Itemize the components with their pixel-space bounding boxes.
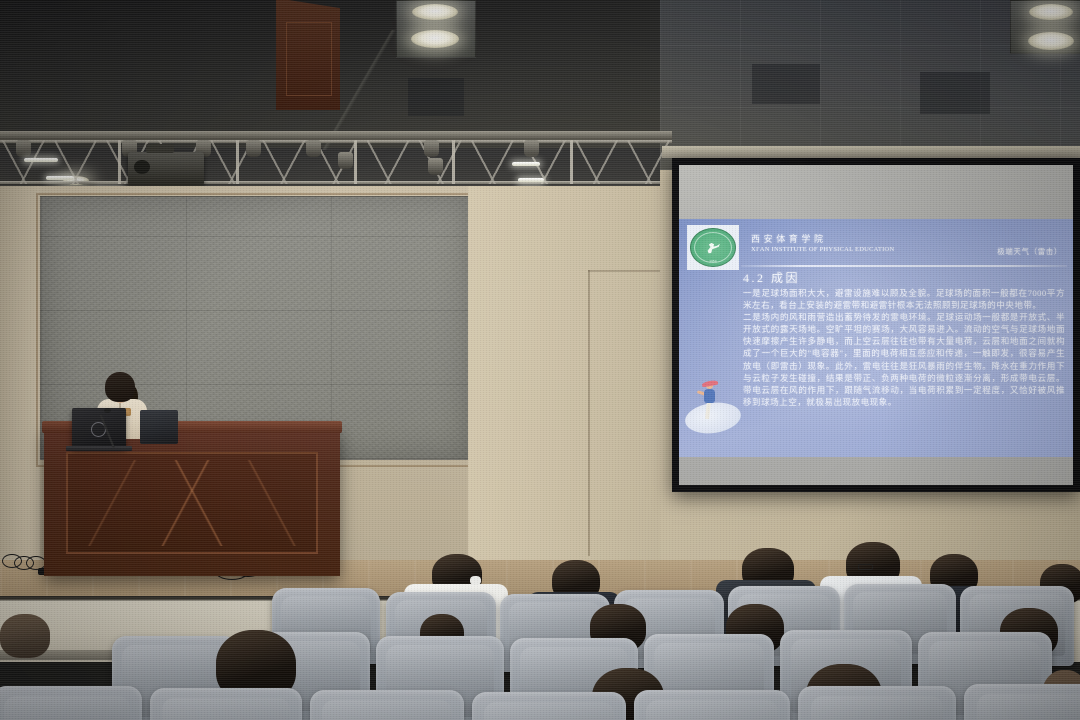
microphone-head-icon — [104, 408, 111, 413]
institution-logo: 1954 — [687, 225, 739, 270]
attendee-head — [0, 614, 50, 658]
strip-light — [46, 176, 74, 180]
slide-header-divider — [741, 265, 1067, 267]
ceiling-projector — [128, 152, 204, 186]
auditorium-seat[interactable] — [310, 690, 464, 720]
track-spotlight — [424, 140, 439, 157]
track-spotlight — [16, 140, 31, 157]
slide-illustration — [683, 381, 743, 439]
seal-icon: 1954 — [690, 228, 736, 267]
rig-beam — [0, 131, 672, 140]
secondary-monitor — [140, 410, 178, 444]
presenter-hair — [105, 372, 135, 402]
presentation-slide: 1954 西安体育学院 XI'AN INSTITUTE OF PHYSICAL … — [679, 219, 1073, 457]
track-spotlight — [428, 158, 443, 175]
ceiling-downlight — [412, 4, 458, 20]
strip-light — [512, 162, 540, 166]
auditorium-seat[interactable] — [798, 686, 956, 720]
institution-name-block: 西安体育学院 XI'AN INSTITUTE OF PHYSICAL EDUCA… — [751, 232, 894, 253]
track-spotlight — [338, 152, 353, 169]
auditorium-seat[interactable] — [150, 688, 302, 720]
institution-name-en: XI'AN INSTITUTE OF PHYSICAL EDUCATION — [751, 246, 894, 253]
ceiling-downlight — [1028, 32, 1074, 50]
slide-paragraph: 二是场内的风和雨营造出蓄势待发的雷电环境。足球运动场一般都是开放式、半开放式的露… — [743, 311, 1065, 408]
track-spotlight — [306, 140, 321, 157]
door-seam — [588, 270, 590, 556]
lecture-hall-photo: 1954 西安体育学院 XI'AN INSTITUTE OF PHYSICAL … — [0, 0, 1080, 720]
podium-side-wing — [276, 0, 340, 110]
eyeglasses — [858, 564, 873, 570]
auditorium-seat[interactable] — [0, 686, 142, 720]
seal-year: 1954 — [709, 259, 716, 263]
screen-surface: 1954 西安体育学院 XI'AN INSTITUTE OF PHYSICAL … — [679, 165, 1073, 485]
ceiling-tile-dark — [752, 64, 820, 104]
track-spotlight — [246, 140, 261, 157]
laptop-base — [66, 446, 132, 451]
slide-paragraph: 一是足球场面积大大，避雷设施难以顾及全貌。足球场的面积一般都在7000平方米左右… — [743, 287, 1065, 311]
strip-light — [518, 178, 544, 182]
audience-seating — [0, 520, 1080, 720]
slide-section-title: 4.2 成因 — [743, 269, 800, 286]
ceiling-tile-dark — [920, 72, 990, 114]
track-spotlight — [524, 140, 539, 157]
auditorium-seat[interactable] — [472, 692, 626, 720]
institution-name-cn: 西安体育学院 — [751, 232, 894, 245]
strip-light — [24, 158, 58, 162]
auditorium-seat[interactable] — [634, 690, 790, 720]
face-mask — [470, 576, 481, 585]
screen-housing — [662, 146, 1080, 158]
slide-body-text: 一是足球场面积大大，避雷设施难以顾及全貌。足球场的面积一般都在7000平方米左右… — [743, 287, 1065, 408]
running-athlete-icon — [706, 241, 721, 254]
slide-topic-label: 极端天气（雷击） — [997, 246, 1062, 257]
ceiling-downlight — [411, 30, 459, 48]
person-figure-icon — [699, 383, 721, 423]
auditorium-seat[interactable] — [964, 684, 1080, 720]
lighting-truss — [0, 140, 672, 184]
door-header — [588, 270, 666, 272]
ceiling-downlight — [1029, 4, 1073, 20]
projection-screen: 1954 西安体育学院 XI'AN INSTITUTE OF PHYSICAL … — [672, 158, 1080, 492]
ceiling-tile-dark — [408, 78, 464, 116]
